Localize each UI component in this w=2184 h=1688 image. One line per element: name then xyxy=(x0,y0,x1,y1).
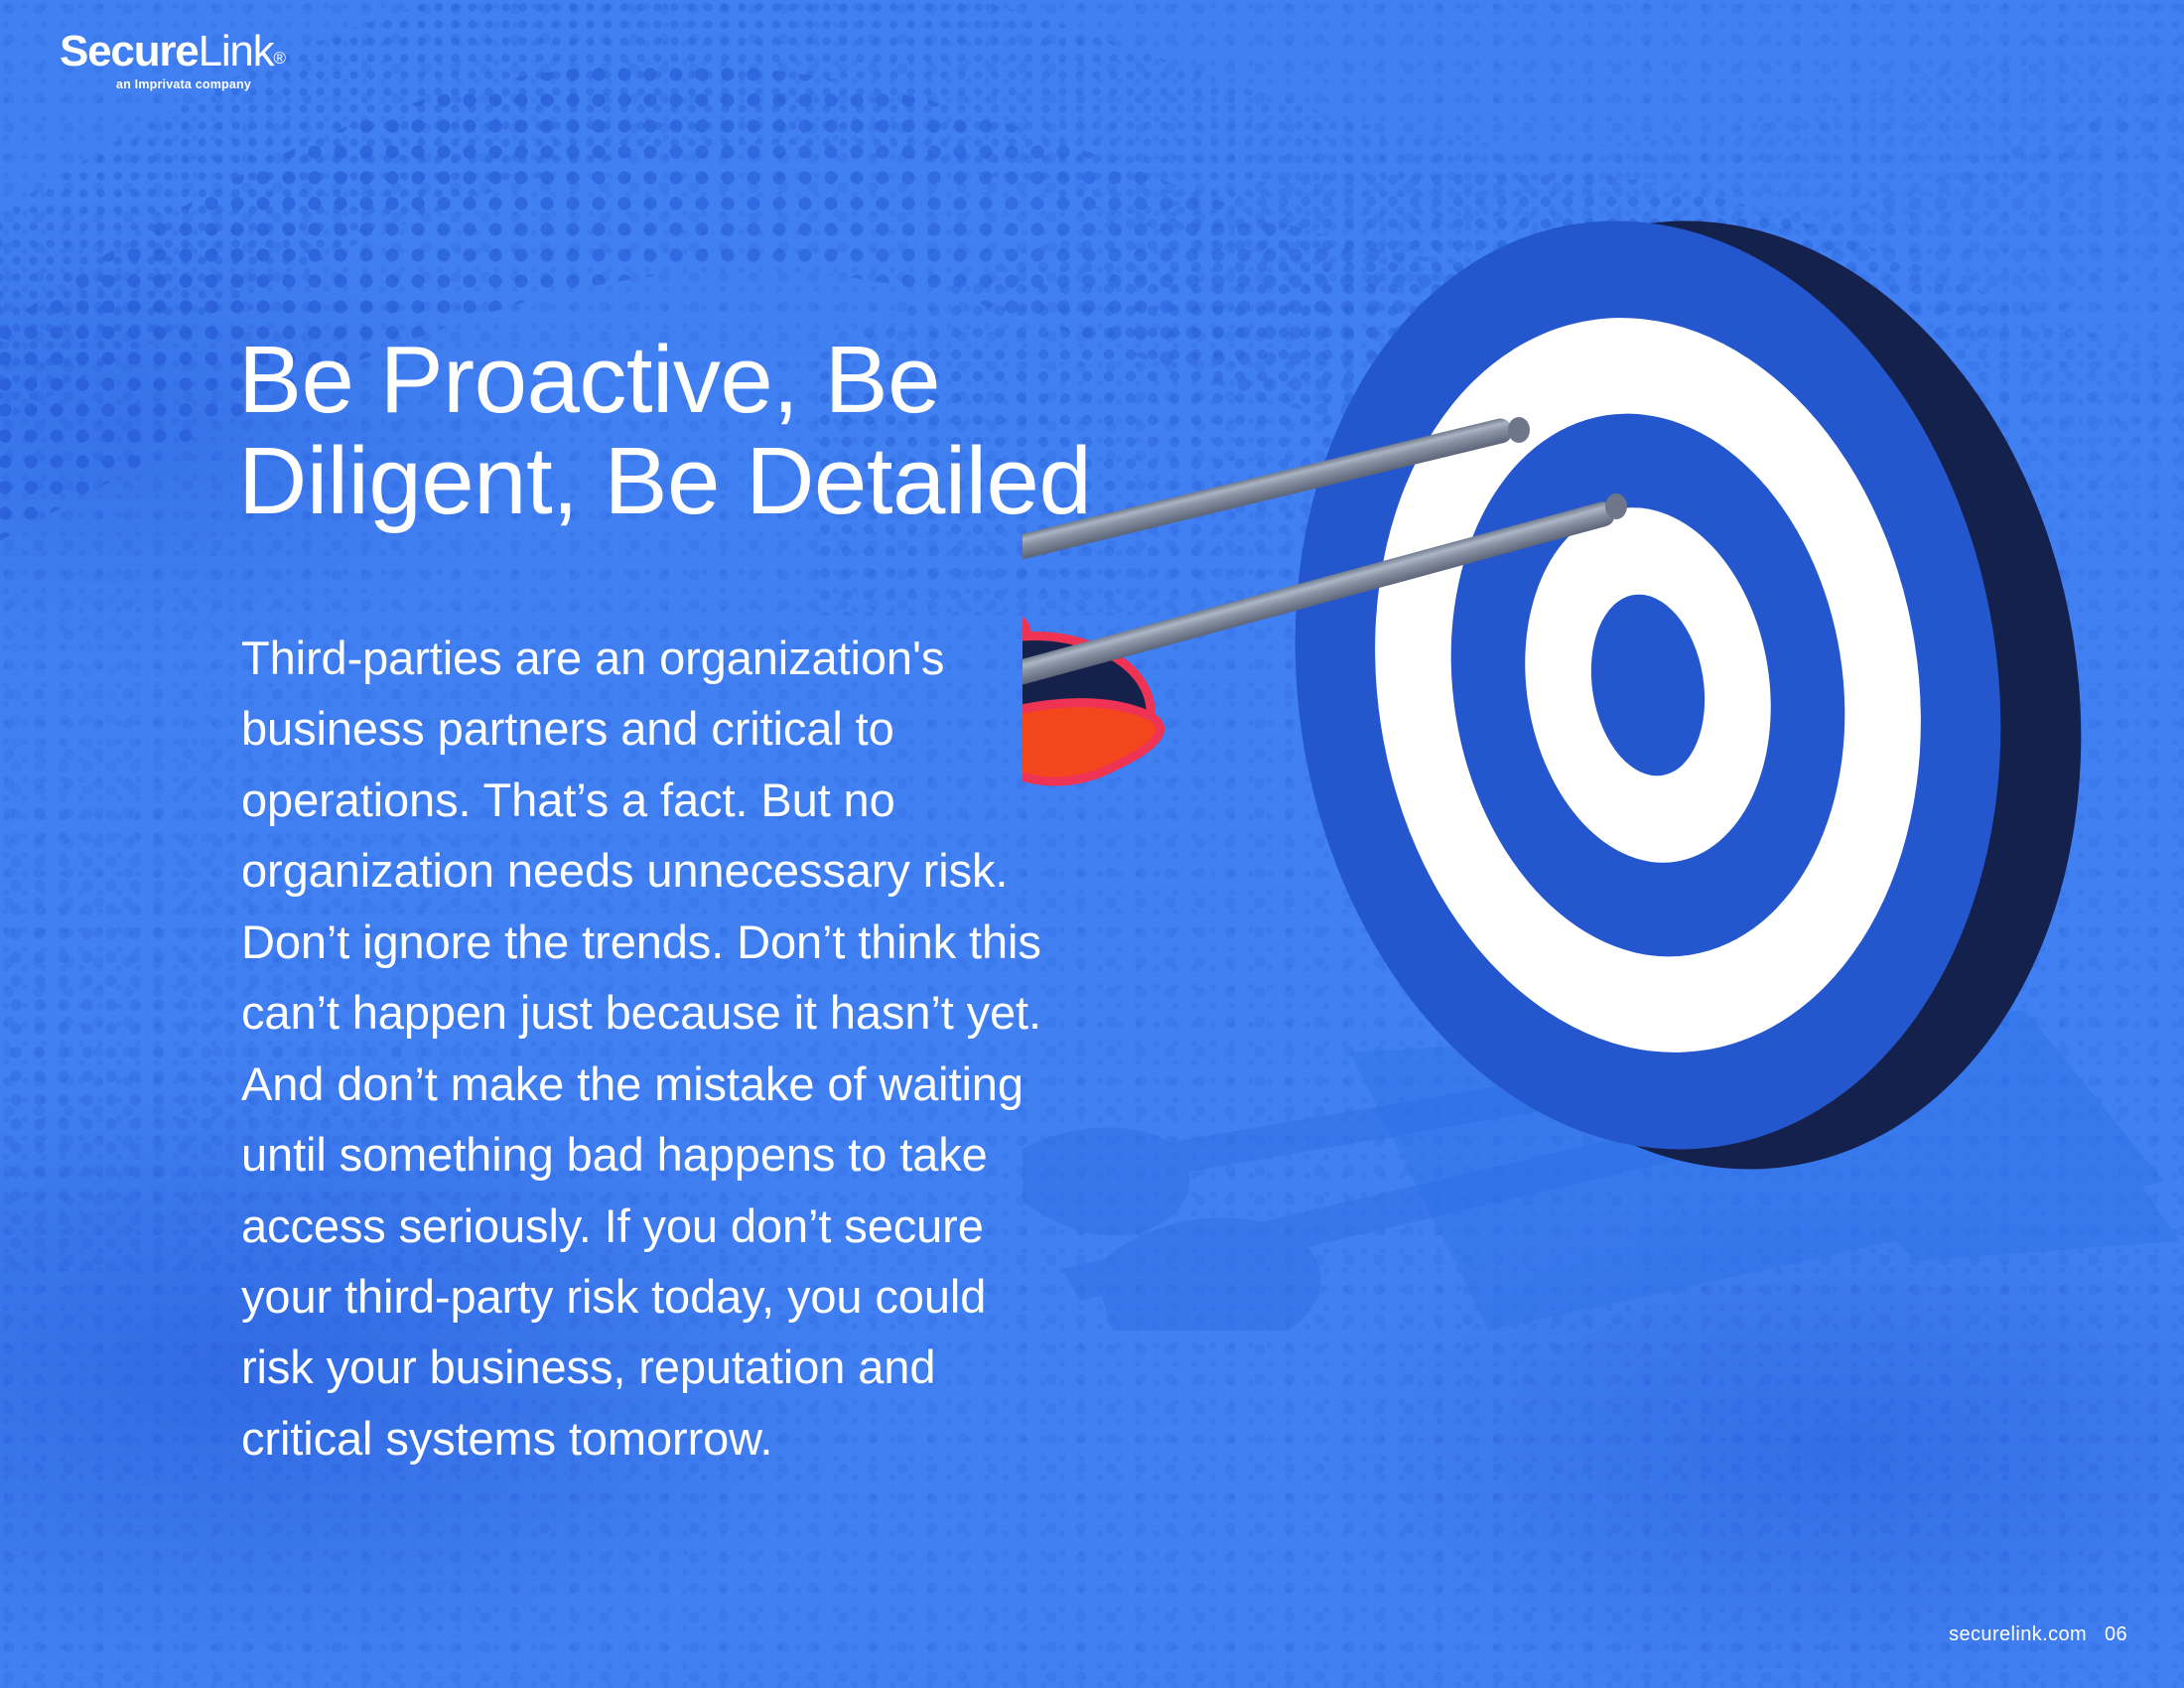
footer-attribution: securelink.com 06 xyxy=(1949,1623,2127,1646)
logo-word-link: Link xyxy=(199,27,274,75)
slide-page: SecureLink® an Imprivata company xyxy=(0,0,2184,1688)
page-title: Be Proactive, Be Diligent, Be Detailed xyxy=(238,330,1231,532)
securelink-logo[interactable]: SecureLink® an Imprivata company xyxy=(60,30,308,91)
body-paragraph: Third-parties are an organization's busi… xyxy=(241,623,1065,1474)
logo-word-secure: Secure xyxy=(60,27,199,75)
logo-tagline: an Imprivata company xyxy=(60,77,308,91)
registered-trademark-icon: ® xyxy=(273,49,284,68)
logo-wordmark: SecureLink® xyxy=(60,30,308,73)
